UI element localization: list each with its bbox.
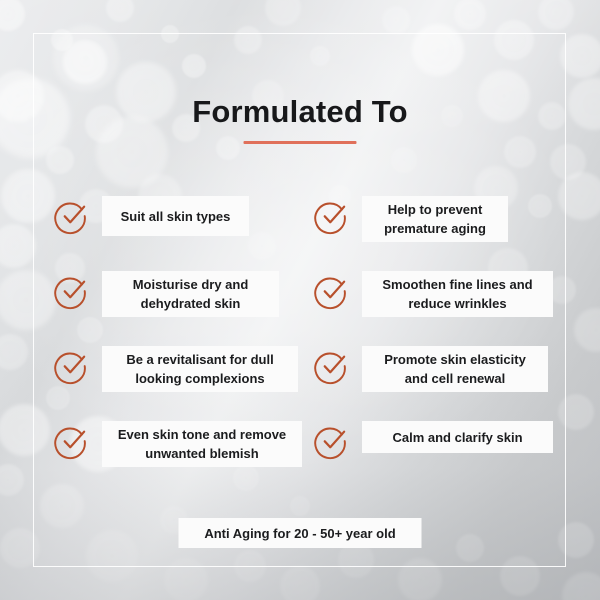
feature-item[interactable]: Smoothen fine lines and reduce wrinkles	[310, 267, 570, 342]
feature-item[interactable]: Calm and clarify skin	[310, 417, 570, 492]
feature-label: Help to prevent premature aging	[362, 196, 508, 242]
check-circle-icon	[54, 423, 91, 460]
feature-label: Smoothen fine lines and reduce wrinkles	[362, 271, 553, 317]
check-circle-icon	[54, 273, 91, 310]
feature-label: Be a revitalisant for dull looking compl…	[102, 346, 298, 392]
feature-label: Promote skin elasticity and cell renewal	[362, 346, 548, 392]
feature-item[interactable]: Moisturise dry and dehydrated skin	[50, 267, 310, 342]
check-circle-icon	[314, 273, 351, 310]
feature-item[interactable]: Promote skin elasticity and cell renewal	[310, 342, 570, 417]
feature-item[interactable]: Suit all skin types	[50, 192, 310, 267]
feature-label: Calm and clarify skin	[362, 421, 553, 453]
feature-item[interactable]: Help to prevent premature aging	[310, 192, 570, 267]
features-right-column: Help to prevent premature aging Smoothen…	[310, 192, 570, 492]
check-circle-icon	[314, 348, 351, 385]
check-circle-icon	[314, 198, 351, 235]
check-circle-icon	[54, 198, 91, 235]
feature-item[interactable]: Be a revitalisant for dull looking compl…	[50, 342, 310, 417]
promo-card: Formulated To Suit all skin types	[0, 0, 600, 600]
feature-label: Moisturise dry and dehydrated skin	[102, 271, 279, 317]
check-circle-icon	[54, 348, 91, 385]
age-range-banner: Anti Aging for 20 - 50+ year old	[179, 518, 422, 548]
feature-item[interactable]: Even skin tone and remove unwanted blemi…	[50, 417, 310, 492]
feature-label: Even skin tone and remove unwanted blemi…	[102, 421, 302, 467]
check-circle-icon	[314, 423, 351, 460]
features-grid: Suit all skin types Moisturise dry and d…	[0, 0, 600, 600]
features-left-column: Suit all skin types Moisturise dry and d…	[50, 192, 310, 492]
feature-label: Suit all skin types	[102, 196, 249, 236]
